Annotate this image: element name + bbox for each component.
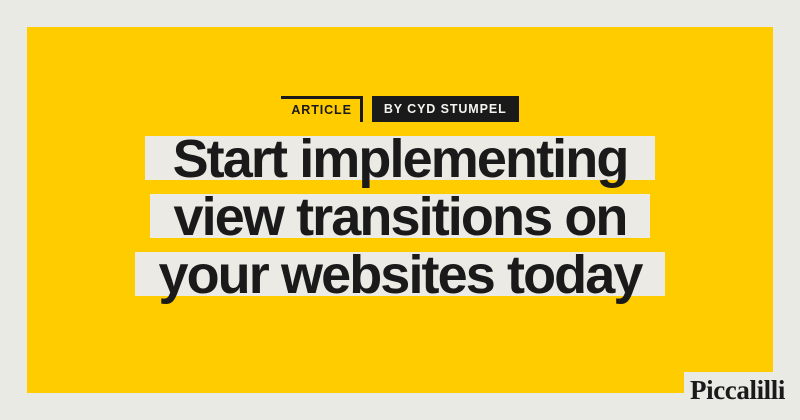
- badge-group: ARTICLE BY CYD STUMPEL: [281, 96, 518, 122]
- author-badge[interactable]: BY CYD STUMPEL: [372, 96, 519, 122]
- social-card: ARTICLE BY CYD STUMPEL Start implementin…: [0, 0, 800, 420]
- badge-row: ARTICLE BY CYD STUMPEL: [27, 96, 773, 122]
- headline: Start implementing view transitions on y…: [27, 130, 773, 304]
- yellow-panel: ARTICLE BY CYD STUMPEL Start implementin…: [27, 27, 773, 393]
- headline-line: your websites today: [27, 246, 773, 304]
- headline-line: Start implementing: [27, 130, 773, 188]
- brand-logo[interactable]: Piccalilli: [684, 372, 800, 420]
- category-badge[interactable]: ARTICLE: [281, 96, 362, 122]
- brand-logo-text: Piccalilli: [684, 377, 785, 404]
- headline-line: view transitions on: [27, 188, 773, 246]
- headline-line-text: your websites today: [158, 246, 641, 304]
- headline-line-text: Start implementing: [173, 130, 628, 188]
- headline-line-text: view transitions on: [174, 188, 627, 246]
